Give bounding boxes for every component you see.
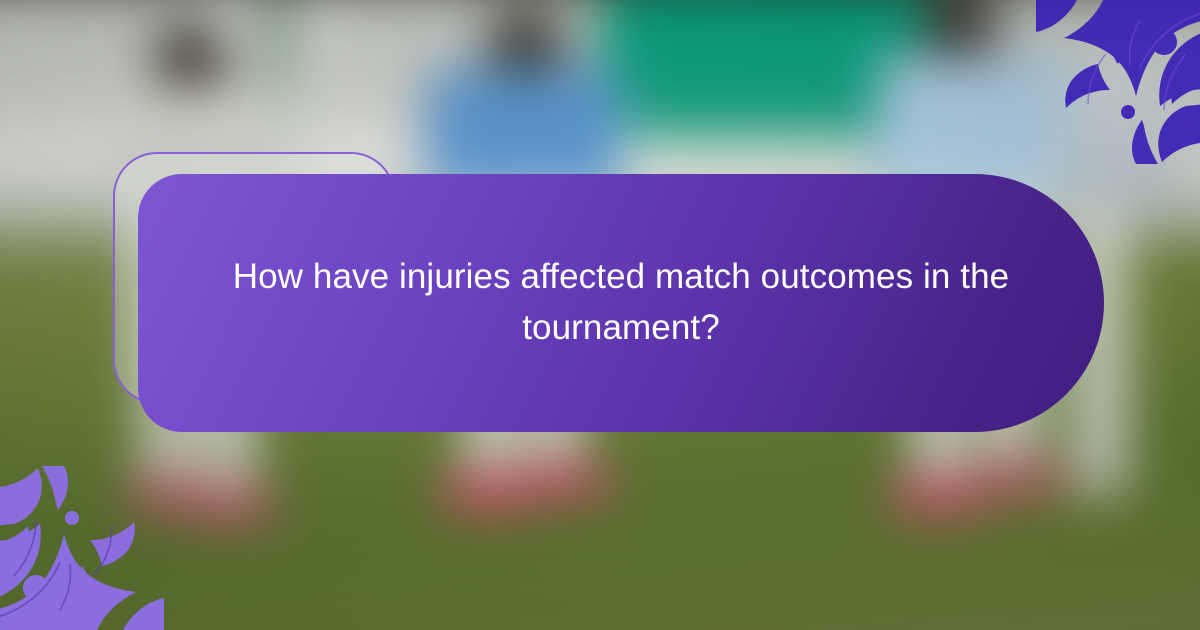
question-card: How have injuries affected match outcome… [138, 174, 1104, 432]
promo-card-canvas: How have injuries affected match outcome… [0, 0, 1200, 630]
question-text: How have injuries affected match outcome… [202, 252, 1040, 354]
